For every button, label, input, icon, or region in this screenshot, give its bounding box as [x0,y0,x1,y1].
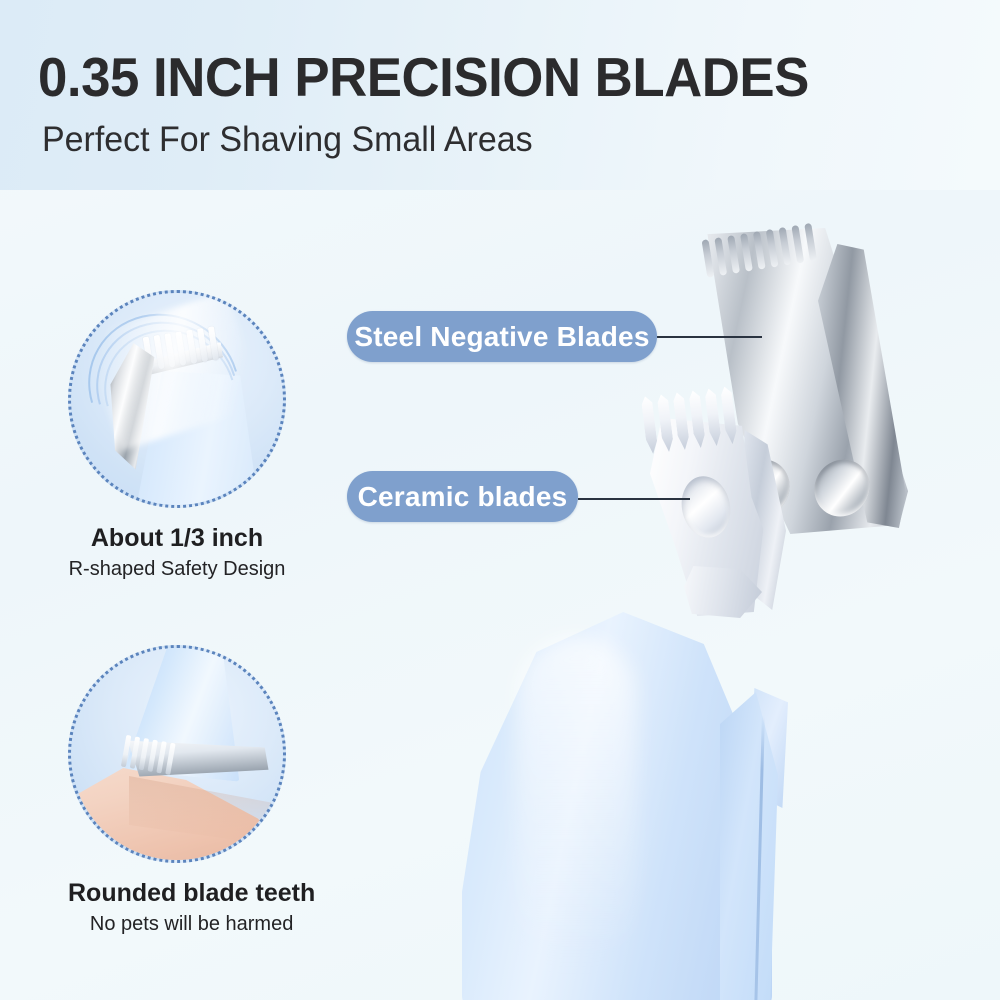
header-band: 0.35 INCH PRECISION BLADES Perfect For S… [0,0,1000,190]
ceramic-blade-graphic [636,390,816,620]
callout-label: Steel Negative Blades [354,321,649,353]
feature-title: About 1/3 inch [68,524,286,553]
trimmer-body-highlight [516,636,636,966]
feature-card-rounded-blade-teeth: Rounded blade teeth No pets will be harm… [68,645,315,936]
leader-line-ceramic-blades [578,498,690,500]
infographic-page: 0.35 INCH PRECISION BLADES Perfect For S… [0,0,1000,1000]
leader-line-steel-negative-blades [657,336,762,338]
feature-title: Rounded blade teeth [68,879,315,908]
trimmer-body-graphic [420,612,840,1000]
feature-card-about-one-third-inch: About 1/3 inch R-shaped Safety Design [68,290,286,581]
feature-subtitle: R-shaped Safety Design [68,558,286,581]
feature-image-trimmer-on-hand [68,645,286,863]
callout-steel-negative-blades[interactable]: Steel Negative Blades [347,311,657,362]
page-subtitle: Perfect For Shaving Small Areas [42,118,533,162]
callout-label: Ceramic blades [358,481,568,513]
callout-ceramic-blades[interactable]: Ceramic blades [347,471,578,522]
page-title: 0.35 INCH PRECISION BLADES [38,46,809,108]
feature-image-trimmer-head-closeup [68,290,286,508]
feature-subtitle: No pets will be harmed [68,913,315,936]
